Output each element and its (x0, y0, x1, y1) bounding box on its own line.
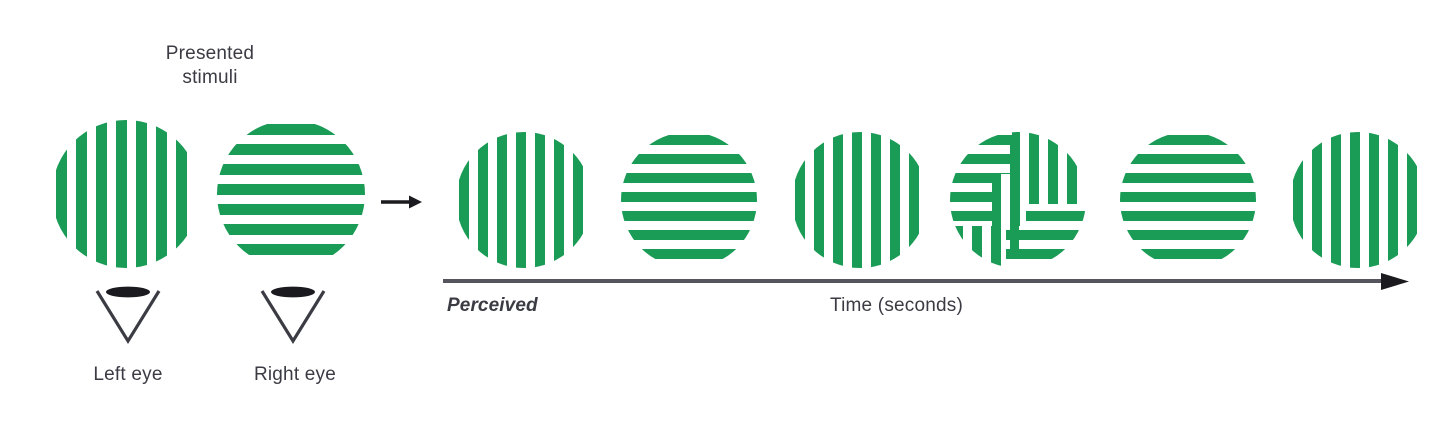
perceived-percept-6-vertical (1288, 130, 1428, 270)
right-eye-label: Right eye (205, 363, 385, 387)
binocular-rivalry-figure: Presented stimuli (0, 0, 1440, 434)
time-axis-label: Time (seconds) (830, 294, 963, 318)
presented-stimuli-title-line2: stimuli (100, 66, 320, 90)
right-eye-icon (258, 283, 328, 350)
left-eye-label: Left eye (38, 363, 218, 387)
right-arrow-icon (381, 193, 423, 216)
perceived-percept-5-horizontal (1118, 130, 1258, 270)
perceived-percept-3-vertical (790, 130, 930, 270)
perceived-percept-4-piecemeal (948, 130, 1088, 270)
perceived-percept-1-vertical (454, 130, 594, 270)
presented-stimulus-left-vertical-grating (50, 118, 202, 270)
left-eye-icon (93, 283, 163, 350)
perceived-percept-2-horizontal (619, 130, 759, 270)
presented-stimuli-title: Presented stimuli (100, 42, 320, 91)
presented-stimuli-title-line1: Presented (100, 42, 320, 66)
presented-stimulus-right-horizontal-grating (215, 118, 367, 270)
perceived-label: Perceived (447, 294, 538, 318)
